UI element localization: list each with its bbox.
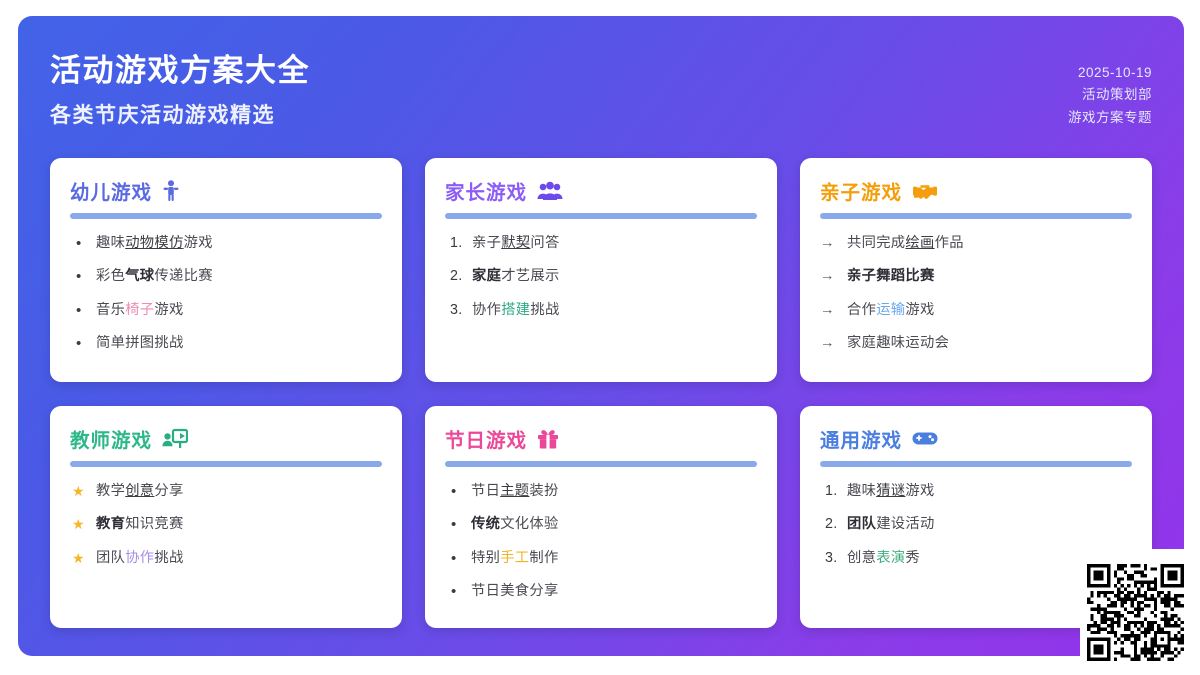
title-divider [820, 461, 1132, 467]
list-marker: → [820, 266, 842, 288]
card: 亲子游戏→共同完成绘画作品→亲子舞蹈比赛→合作运输游戏→家庭趣味运动会 [800, 158, 1152, 382]
text-segment: 建设活动 [876, 516, 934, 532]
text-segment: 问答 [530, 235, 559, 251]
list-item-text: 节日美食分享 [471, 583, 559, 599]
list-marker: • [451, 581, 473, 604]
list-item-text: 团队协作挑战 [96, 550, 184, 566]
title-divider [445, 461, 757, 467]
list-item[interactable]: ★教育知识竞赛 [70, 514, 382, 535]
list-item-text: 协作搭建挑战 [472, 302, 560, 318]
list-marker: ★ [72, 548, 94, 569]
card: 幼儿游戏•趣味动物模仿游戏•彩色气球传递比赛•音乐椅子游戏•简单拼图挑战 [50, 158, 402, 382]
list-marker: → [820, 233, 842, 255]
text-segment: 挑战 [530, 302, 559, 318]
title-divider [70, 213, 382, 219]
list-marker: • [76, 300, 98, 323]
people-icon [537, 181, 563, 201]
list-marker: • [76, 333, 98, 356]
card-title: 家长游戏 [445, 176, 527, 205]
list-item-text: 合作运输游戏 [847, 302, 935, 318]
list-item-text: 共同完成绘画作品 [847, 235, 964, 251]
list-item-text: 趣味猜谜游戏 [847, 483, 935, 499]
list-item-text: 亲子舞蹈比赛 [847, 268, 935, 284]
child-icon [162, 180, 180, 202]
card: 教师游戏★教学创意分享★教育知识竞赛★团队协作挑战 [50, 406, 402, 628]
list-marker: • [451, 514, 473, 537]
page-root: 活动游戏方案大全 各类节庆活动游戏精选 2025-10-19 活动策划部 游戏方… [0, 0, 1200, 675]
text-segment: 特别 [471, 550, 500, 566]
text-segment: 知识竞赛 [125, 516, 183, 532]
list-item[interactable]: 1.亲子默契问答 [445, 233, 757, 254]
card-list: ★教学创意分享★教育知识竞赛★团队协作挑战 [70, 481, 382, 569]
list-item[interactable]: •音乐椅子游戏 [70, 300, 382, 321]
list-marker: → [820, 333, 842, 355]
qr-code[interactable] [1087, 564, 1184, 661]
card-header: 亲子游戏 [820, 176, 1132, 211]
text-segment: 趣味 [96, 235, 125, 251]
highlight-bold: 家庭 [472, 268, 501, 284]
card-header: 家长游戏 [445, 176, 757, 211]
list-item-text: 家庭才艺展示 [472, 268, 560, 284]
list-item-text: 节日主题装扮 [471, 483, 559, 499]
text-segment: 彩色 [96, 268, 125, 284]
list-item-text: 特别手工制作 [471, 550, 559, 566]
card-list: •趣味动物模仿游戏•彩色气球传递比赛•音乐椅子游戏•简单拼图挑战 [70, 233, 382, 355]
list-marker: 3. [825, 548, 847, 569]
card-title: 通用游戏 [820, 424, 902, 453]
text-segment: 教学 [96, 483, 125, 499]
text-segment: 团队 [96, 550, 125, 566]
highlight-bold: 教育 [96, 516, 125, 532]
page-title: 活动游戏方案大全 [50, 52, 310, 91]
list-item[interactable]: →亲子舞蹈比赛 [820, 266, 1132, 287]
list-marker: 2. [825, 514, 847, 535]
list-item-text: 创意表演秀 [847, 550, 920, 566]
card-list: 1.亲子默契问答2.家庭才艺展示3.协作搭建挑战 [445, 233, 757, 321]
text-segment: 才艺展示 [501, 268, 559, 284]
title-divider [820, 213, 1132, 219]
card: 节日游戏•节日主题装扮•传统文化体验•特别手工制作•节日美食分享 [425, 406, 777, 628]
card-title: 幼儿游戏 [70, 176, 152, 205]
text-segment: 游戏 [905, 483, 934, 499]
text-segment: 游戏 [154, 302, 183, 318]
list-item-text: 教学创意分享 [96, 483, 184, 499]
card-header: 通用游戏 [820, 424, 1132, 459]
list-item-text: 传统文化体验 [471, 516, 559, 532]
highlight-color: 椅子 [125, 302, 154, 318]
highlight-color: 运输 [876, 302, 905, 318]
text-segment: 传递比赛 [154, 268, 212, 284]
text-segment: 简单拼图挑战 [96, 335, 184, 351]
card-grid: 幼儿游戏•趣味动物模仿游戏•彩色气球传递比赛•音乐椅子游戏•简单拼图挑战家长游戏… [50, 158, 1152, 628]
highlight-color: 表演 [876, 550, 905, 566]
highlight-bold: 亲子舞蹈比赛 [847, 268, 935, 284]
title-divider [445, 213, 757, 219]
text-segment: 节日 [471, 483, 500, 499]
list-item[interactable]: •彩色气球传递比赛 [70, 266, 382, 287]
card-header: 幼儿游戏 [70, 176, 382, 211]
list-marker: • [76, 266, 98, 289]
header-department: 活动策划部 [1068, 84, 1152, 106]
list-item[interactable]: ★教学创意分享 [70, 481, 382, 502]
text-segment: 合作 [847, 302, 876, 318]
list-item-text: 家庭趣味运动会 [847, 335, 949, 351]
highlight-color: 手工 [500, 550, 529, 566]
list-item[interactable]: •特别手工制作 [445, 548, 757, 569]
card-header: 教师游戏 [70, 424, 382, 459]
header-topic: 游戏方案专题 [1068, 107, 1152, 129]
list-item[interactable]: 2.团队建设活动 [820, 514, 1132, 535]
text-segment: 文化体验 [500, 516, 558, 532]
header-meta: 2025-10-19 活动策划部 游戏方案专题 [1068, 62, 1152, 129]
highlight-bold: 气球 [125, 268, 154, 284]
list-item-text: 彩色气球传递比赛 [96, 268, 213, 284]
list-marker: • [451, 548, 473, 571]
text-segment: 亲子 [472, 235, 501, 251]
list-marker: 2. [450, 266, 472, 287]
list-item[interactable]: →家庭趣味运动会 [820, 333, 1132, 354]
card-list: •节日主题装扮•传统文化体验•特别手工制作•节日美食分享 [445, 481, 757, 603]
highlight-bold: 传统 [471, 516, 500, 532]
list-marker: 3. [450, 300, 472, 321]
text-segment: 协作 [472, 302, 501, 318]
list-item-text: 简单拼图挑战 [96, 335, 184, 351]
card-title: 节日游戏 [445, 424, 527, 453]
highlight-color: 协作 [125, 550, 154, 566]
highlight-bold: 团队 [847, 516, 876, 532]
list-item-text: 亲子默契问答 [472, 235, 560, 251]
list-item[interactable]: 3.协作搭建挑战 [445, 300, 757, 321]
text-segment: 游戏 [905, 302, 934, 318]
list-item-text: 教育知识竞赛 [96, 516, 184, 532]
list-marker: ★ [72, 514, 94, 535]
list-marker: • [76, 233, 98, 256]
list-marker: • [451, 481, 473, 504]
list-item[interactable]: 2.家庭才艺展示 [445, 266, 757, 287]
text-segment: 挑战 [154, 550, 183, 566]
card: 家长游戏1.亲子默契问答2.家庭才艺展示3.协作搭建挑战 [425, 158, 777, 382]
list-item[interactable]: •简单拼图挑战 [70, 333, 382, 354]
text-segment: 创意 [847, 550, 876, 566]
text-segment: 作品 [935, 235, 964, 251]
list-item[interactable]: →共同完成绘画作品 [820, 233, 1132, 254]
text-segment: 游戏 [184, 235, 213, 251]
highlight-underline: 猜谜 [876, 483, 905, 499]
text-segment: 分享 [154, 483, 183, 499]
text-segment: 装扮 [529, 483, 558, 499]
text-segment: 制作 [529, 550, 558, 566]
header-date: 2025-10-19 [1068, 62, 1152, 84]
list-item-text: 趣味动物模仿游戏 [96, 235, 213, 251]
page-subtitle: 各类节庆活动游戏精选 [50, 99, 310, 129]
list-item-text: 团队建设活动 [847, 516, 935, 532]
text-segment: 秀 [905, 550, 920, 566]
highlight-underline: 默契 [501, 235, 530, 251]
list-item-text: 音乐椅子游戏 [96, 302, 184, 318]
list-item[interactable]: •节日美食分享 [445, 581, 757, 602]
list-marker: ★ [72, 481, 94, 502]
teacher-presentation-icon [162, 428, 188, 450]
header-left: 活动游戏方案大全 各类节庆活动游戏精选 [50, 52, 310, 129]
card-title: 教师游戏 [70, 424, 152, 453]
text-segment: 趣味 [847, 483, 876, 499]
list-item[interactable]: →合作运输游戏 [820, 300, 1132, 321]
card-list: →共同完成绘画作品→亲子舞蹈比赛→合作运输游戏→家庭趣味运动会 [820, 233, 1132, 355]
list-item[interactable]: 1.趣味猜谜游戏 [820, 481, 1132, 502]
text-segment: 节日美食分享 [471, 583, 559, 599]
gift-icon [537, 428, 559, 449]
list-item[interactable]: •传统文化体验 [445, 514, 757, 535]
title-divider [70, 461, 382, 467]
highlight-underline: 绘画 [905, 235, 934, 251]
list-item[interactable]: •趣味动物模仿游戏 [70, 233, 382, 254]
list-marker: 1. [825, 481, 847, 502]
handshake-icon [912, 181, 938, 201]
slide: 活动游戏方案大全 各类节庆活动游戏精选 2025-10-19 活动策划部 游戏方… [18, 16, 1184, 656]
gamepad-icon [912, 430, 938, 447]
qr-code-block [1080, 549, 1200, 675]
highlight-underline: 主题 [500, 483, 529, 499]
slide-header: 活动游戏方案大全 各类节庆活动游戏精选 2025-10-19 活动策划部 游戏方… [18, 16, 1184, 156]
highlight-color: 搭建 [501, 302, 530, 318]
text-segment: 共同完成 [847, 235, 905, 251]
text-segment: 音乐 [96, 302, 125, 318]
card-title: 亲子游戏 [820, 176, 902, 205]
list-marker: → [820, 300, 842, 322]
list-marker: 1. [450, 233, 472, 254]
text-segment: 家庭趣味运动会 [847, 335, 949, 351]
highlight-underline: 创意 [125, 483, 154, 499]
highlight-underline: 动物模仿 [125, 235, 183, 251]
list-item[interactable]: ★团队协作挑战 [70, 548, 382, 569]
card-header: 节日游戏 [445, 424, 757, 459]
list-item[interactable]: •节日主题装扮 [445, 481, 757, 502]
